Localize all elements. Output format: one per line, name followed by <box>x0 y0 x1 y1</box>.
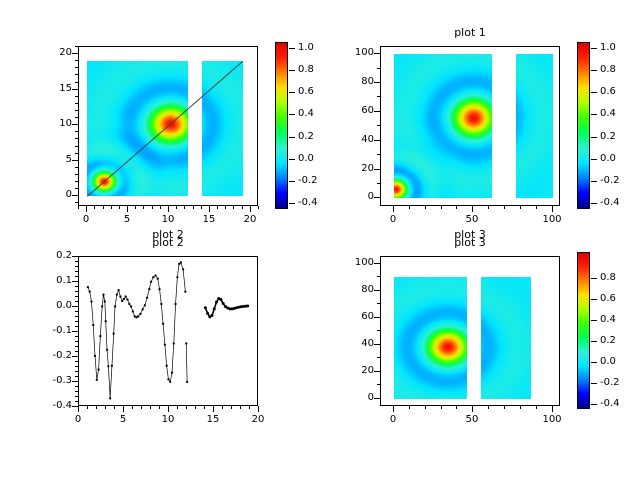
colorbar-tick-label: -0.4 <box>298 198 318 208</box>
tick-mark <box>201 206 202 209</box>
series-marker <box>222 302 225 305</box>
tick-mark <box>242 206 243 209</box>
series-marker <box>148 288 150 290</box>
tick-label: 20 <box>238 415 278 425</box>
series-marker <box>211 314 214 317</box>
colorbar-top-left <box>275 42 288 209</box>
colorbar-tick <box>289 70 295 71</box>
colorbar-tick-label: 0.4 <box>600 315 616 325</box>
tick-mark <box>75 326 78 327</box>
series-marker <box>128 303 130 305</box>
tick-mark <box>177 406 178 409</box>
tick-mark <box>258 406 259 409</box>
tick-mark <box>75 160 78 161</box>
colorbar-tick <box>289 181 295 182</box>
tick-mark <box>393 406 394 409</box>
series-marker <box>109 397 111 399</box>
tick-mark <box>441 406 442 409</box>
tick-mark <box>552 206 553 209</box>
colorbar-tick <box>591 114 597 115</box>
series-marker <box>114 305 116 307</box>
colorbar-tick-label: -0.4 <box>600 198 620 208</box>
tick-mark <box>103 206 104 209</box>
tick-mark <box>141 406 142 409</box>
tick-label: 5 <box>32 155 72 165</box>
tick-mark <box>409 206 410 209</box>
tick-mark <box>240 406 241 409</box>
axes-bottom-left[interactable] <box>78 256 258 406</box>
tick-mark <box>75 311 78 312</box>
tick-mark <box>75 371 78 372</box>
tick-mark <box>488 406 489 409</box>
series-marker <box>146 297 148 299</box>
tick-mark <box>472 206 473 209</box>
tick-mark <box>75 396 78 397</box>
tick-mark <box>75 82 78 83</box>
tick-label: 15 <box>32 84 72 94</box>
tick-mark <box>488 206 489 209</box>
tick-label: 0.1 <box>32 276 72 286</box>
series-marker <box>169 381 171 383</box>
series-marker <box>89 290 91 292</box>
tick-label: 100 <box>532 215 572 225</box>
series-marker <box>166 365 168 367</box>
tick-mark <box>75 195 78 196</box>
title-bottom-left: plot 2 <box>78 237 258 249</box>
title-bottom-right: plot 3 <box>380 237 560 249</box>
colorbar-tick <box>289 92 295 93</box>
tick-mark <box>250 206 251 209</box>
series-marker <box>106 349 108 351</box>
tick-mark <box>75 256 78 257</box>
tick-mark <box>75 74 78 75</box>
colorbar-tick <box>289 159 295 160</box>
tick-mark <box>377 96 380 97</box>
figure-canvas: 0510152005101520 plot 2 1.00.80.60.40.20… <box>0 0 640 480</box>
tick-label: 0 <box>334 192 374 202</box>
tick-mark <box>75 167 78 168</box>
colorbar-tick-label: 0.2 <box>298 132 314 142</box>
tick-mark <box>231 406 232 409</box>
series-marker <box>107 365 109 367</box>
tick-mark <box>425 406 426 409</box>
tick-mark <box>425 206 426 209</box>
tick-mark <box>143 206 144 209</box>
series-marker <box>157 278 159 280</box>
axes-top-left[interactable] <box>78 46 258 206</box>
colorbar-tick-label: -0.2 <box>600 378 620 388</box>
colorbar-top-right <box>577 42 590 209</box>
series-marker <box>178 263 180 265</box>
pseudocolor-image <box>394 54 493 198</box>
tick-label: 100 <box>334 258 374 268</box>
tick-label: 0.2 <box>32 251 72 261</box>
tick-mark <box>75 306 78 307</box>
tick-label: 100 <box>532 415 572 425</box>
tick-label: -0.2 <box>32 351 72 361</box>
tick-label: 40 <box>334 135 374 145</box>
tick-mark <box>75 331 78 332</box>
series-marker <box>219 298 222 301</box>
tick-mark <box>456 406 457 409</box>
colorbar-tick <box>591 299 597 300</box>
series-marker <box>164 344 166 346</box>
tick-mark <box>377 197 380 198</box>
tick-label: 50 <box>452 215 492 225</box>
colorbar-tick <box>591 278 597 279</box>
colorbar-tick <box>289 114 295 115</box>
colorbar-tick-label: 0.2 <box>600 336 616 346</box>
series-marker <box>137 315 139 317</box>
series-marker <box>215 301 218 304</box>
tick-label: 80 <box>334 77 374 87</box>
tick-mark <box>377 290 380 291</box>
tick-mark <box>213 406 214 409</box>
tick-mark <box>127 206 128 209</box>
colorbar-tick-label: -0.4 <box>600 399 620 409</box>
image-block-2 <box>516 54 553 198</box>
colorbar-tick-label: 0.6 <box>600 87 616 97</box>
tick-mark <box>94 206 95 209</box>
tick-mark <box>75 138 78 139</box>
tick-mark <box>168 406 169 409</box>
pseudocolor-image <box>394 277 467 399</box>
tick-mark <box>193 206 194 209</box>
series-marker <box>132 310 134 312</box>
tick-mark <box>105 406 106 409</box>
series-marker <box>139 313 141 315</box>
tick-mark <box>75 301 78 302</box>
tick-mark <box>75 291 78 292</box>
series-marker <box>246 304 249 307</box>
tick-mark <box>377 263 380 264</box>
tick-mark <box>114 406 115 409</box>
colorbar-tick-label: 0.6 <box>600 294 616 304</box>
series-marker <box>173 342 175 344</box>
pseudocolor-image <box>87 61 188 196</box>
series-marker <box>141 308 143 310</box>
series-marker <box>130 305 132 307</box>
tick-mark <box>184 206 185 209</box>
series-marker <box>102 293 104 295</box>
series-marker <box>99 335 101 337</box>
tick-mark <box>75 276 78 277</box>
tick-label: 20 <box>334 366 374 376</box>
colorbar-tick <box>591 70 597 71</box>
tick-mark <box>75 110 78 111</box>
tick-mark <box>195 406 196 409</box>
tick-mark <box>520 206 521 209</box>
tick-mark <box>75 181 78 182</box>
colorbar-tick <box>289 137 295 138</box>
tick-mark <box>75 188 78 189</box>
tick-mark <box>377 111 380 112</box>
colorbar-tick-label: 0.4 <box>600 109 616 119</box>
tick-mark <box>75 406 78 407</box>
tick-label: 0 <box>373 415 413 425</box>
tick-mark <box>75 351 78 352</box>
image-block-2 <box>202 61 243 196</box>
series-marker <box>101 305 103 307</box>
tick-mark <box>377 276 380 277</box>
tick-mark <box>135 206 136 209</box>
tick-mark <box>75 261 78 262</box>
axes-bottom-right[interactable] <box>380 256 560 406</box>
colorbar-tick <box>591 181 597 182</box>
colorbar-tick-label: 0.4 <box>298 109 314 119</box>
series-marker <box>94 355 96 357</box>
tick-mark <box>75 131 78 132</box>
colorbar-gradient <box>276 43 287 208</box>
subplot-top-left: 0510152005101520 plot 2 1.00.80.60.40.20… <box>0 0 320 240</box>
series-marker <box>111 365 113 367</box>
tick-label: 20 <box>334 164 374 174</box>
colorbar-tick <box>591 92 597 93</box>
colorbar-bottom-right <box>577 252 590 409</box>
tick-mark <box>377 344 380 345</box>
series-marker <box>167 378 169 380</box>
tick-mark <box>75 271 78 272</box>
tick-mark <box>504 206 505 209</box>
tick-mark <box>456 206 457 209</box>
colorbar-tick-label: 1.0 <box>298 43 314 53</box>
tick-mark <box>75 174 78 175</box>
series-marker <box>162 323 164 325</box>
tick-mark <box>75 266 78 267</box>
tick-mark <box>75 356 78 357</box>
tick-mark <box>75 117 78 118</box>
colorbar-tick-label: 1.0 <box>600 43 616 53</box>
tick-mark <box>86 206 87 209</box>
series-marker <box>174 303 176 305</box>
colorbar-tick <box>591 159 597 160</box>
series-marker <box>104 300 106 302</box>
tick-mark <box>75 281 78 282</box>
series-marker <box>125 295 127 297</box>
colorbar-tick <box>591 320 597 321</box>
series-marker <box>121 300 123 302</box>
tick-mark <box>377 140 380 141</box>
tick-mark <box>204 406 205 409</box>
tick-mark <box>78 406 79 409</box>
tick-mark <box>168 206 169 209</box>
series-marker <box>180 261 182 263</box>
series-line <box>88 262 185 398</box>
tick-mark <box>377 317 380 318</box>
tick-mark <box>249 406 250 409</box>
tick-mark <box>123 406 124 409</box>
series-marker <box>113 332 115 334</box>
tick-label: 10 <box>32 119 72 129</box>
tick-mark <box>377 303 380 304</box>
tick-mark <box>75 146 78 147</box>
tick-mark <box>377 125 380 126</box>
series-marker <box>97 368 99 370</box>
colorbar-tick-label: 0.0 <box>600 154 616 164</box>
colorbar-tick-label: 0.2 <box>600 132 616 142</box>
tick-mark <box>75 202 78 203</box>
tick-mark <box>75 124 78 125</box>
tick-mark <box>504 406 505 409</box>
colorbar-tick <box>591 48 597 49</box>
tick-mark <box>536 406 537 409</box>
tick-mark <box>75 296 78 297</box>
tick-mark <box>119 206 120 209</box>
series-marker <box>126 298 128 300</box>
title-top-right: plot 1 <box>380 27 560 39</box>
tick-mark <box>377 68 380 69</box>
tick-mark <box>176 206 177 209</box>
colorbar-tick <box>591 137 597 138</box>
subplot-bottom-left: plot 2 051015200.20.10.0-0.1-0.2-0.3-0.4 <box>0 240 320 480</box>
colorbar-tick-label: 0.8 <box>600 65 616 75</box>
tick-label: 15 <box>189 215 229 225</box>
series-marker <box>154 274 156 276</box>
pseudocolor-image <box>202 61 243 196</box>
pseudocolor-image <box>481 277 530 399</box>
tick-label: 80 <box>334 285 374 295</box>
tick-mark <box>75 103 78 104</box>
tick-mark <box>75 96 78 97</box>
tick-mark <box>75 346 78 347</box>
tick-mark <box>75 286 78 287</box>
tick-label: 0 <box>373 215 413 225</box>
series-marker <box>123 298 125 300</box>
image-block-1 <box>394 54 493 198</box>
colorbar-tick-label: 0.0 <box>600 357 616 367</box>
tick-mark <box>472 406 473 409</box>
tick-mark <box>377 384 380 385</box>
colorbar-tick-label: -0.2 <box>600 176 620 186</box>
tick-mark <box>75 67 78 68</box>
tick-mark <box>75 341 78 342</box>
tick-mark <box>222 406 223 409</box>
series-marker <box>204 306 207 309</box>
tick-mark <box>377 154 380 155</box>
series-marker <box>176 276 178 278</box>
tick-mark <box>393 206 394 209</box>
tick-label: 10 <box>148 215 188 225</box>
series-marker <box>152 276 154 278</box>
tick-mark <box>75 60 78 61</box>
tick-label: 0 <box>32 190 72 200</box>
pseudocolor-image <box>516 54 553 198</box>
tick-mark <box>87 406 88 409</box>
tick-mark <box>75 401 78 402</box>
tick-mark <box>75 376 78 377</box>
tick-mark <box>75 53 78 54</box>
tick-label: 15 <box>193 415 233 425</box>
subplot-bottom-right: plot 3 050100020406080100 0.80.60.40.20.… <box>320 240 640 480</box>
tick-label: 0 <box>334 393 374 403</box>
tick-mark <box>75 89 78 90</box>
axes-top-right[interactable] <box>380 46 560 206</box>
tick-mark <box>132 406 133 409</box>
tick-mark <box>377 82 380 83</box>
series-marker <box>158 288 160 290</box>
tick-mark <box>409 406 410 409</box>
tick-label: 60 <box>334 312 374 322</box>
image-block-1 <box>87 61 188 196</box>
tick-mark <box>75 321 78 322</box>
tick-mark <box>96 406 97 409</box>
series-marker <box>117 289 119 291</box>
tick-mark <box>377 330 380 331</box>
subplot-top-right: plot 1 050100020406080100 plot 3 1.00.80… <box>320 0 640 240</box>
tick-mark <box>520 406 521 409</box>
tick-mark <box>75 381 78 382</box>
series-marker <box>213 307 216 310</box>
series-marker <box>92 324 94 326</box>
tick-label: -0.4 <box>32 401 72 411</box>
tick-label: -0.1 <box>32 326 72 336</box>
tick-label: 0 <box>58 415 98 425</box>
tick-label: 10 <box>148 415 188 425</box>
colorbar-tick <box>289 203 295 204</box>
tick-mark <box>209 206 210 209</box>
colorbar-tick <box>289 48 295 49</box>
tick-mark <box>441 206 442 209</box>
tick-label: 0 <box>66 215 106 225</box>
colorbar-tick <box>591 341 597 342</box>
tick-mark <box>377 53 380 54</box>
series-marker <box>105 320 107 322</box>
tick-mark <box>552 406 553 409</box>
colorbar-tick <box>591 203 597 204</box>
series-marker <box>144 304 146 306</box>
series-marker <box>116 293 118 295</box>
series-marker <box>119 295 121 297</box>
tick-mark <box>152 206 153 209</box>
series-marker <box>90 300 92 302</box>
tick-mark <box>111 206 112 209</box>
series-marker <box>185 342 187 344</box>
colorbar-tick-label: -0.2 <box>298 176 318 186</box>
tick-mark <box>377 169 380 170</box>
colorbar-tick-label: 0.6 <box>298 87 314 97</box>
tick-mark <box>233 206 234 209</box>
tick-mark <box>377 371 380 372</box>
series-line <box>186 344 187 382</box>
tick-mark <box>78 206 79 209</box>
tick-mark <box>75 46 78 47</box>
tick-mark <box>536 206 537 209</box>
tick-mark <box>75 316 78 317</box>
colorbar-tick-label: 0.0 <box>298 154 314 164</box>
colorbar-tick <box>591 404 597 405</box>
tick-mark <box>75 391 78 392</box>
tick-label: 5 <box>107 215 147 225</box>
line-series-plot <box>79 257 257 405</box>
tick-mark <box>377 357 380 358</box>
colorbar-gradient <box>578 43 589 208</box>
series-marker <box>186 381 188 383</box>
tick-mark <box>75 153 78 154</box>
tick-mark <box>159 406 160 409</box>
series-marker <box>160 303 162 305</box>
tick-mark <box>258 206 259 209</box>
tick-mark <box>75 336 78 337</box>
tick-mark <box>217 206 218 209</box>
tick-mark <box>75 386 78 387</box>
series-marker <box>184 290 186 292</box>
colorbar-tick-label: 0.8 <box>600 273 616 283</box>
image-block-2 <box>481 277 530 399</box>
series-marker <box>96 379 98 381</box>
tick-mark <box>377 398 380 399</box>
colorbar-tick-label: 0.8 <box>298 65 314 75</box>
tick-mark <box>160 206 161 209</box>
